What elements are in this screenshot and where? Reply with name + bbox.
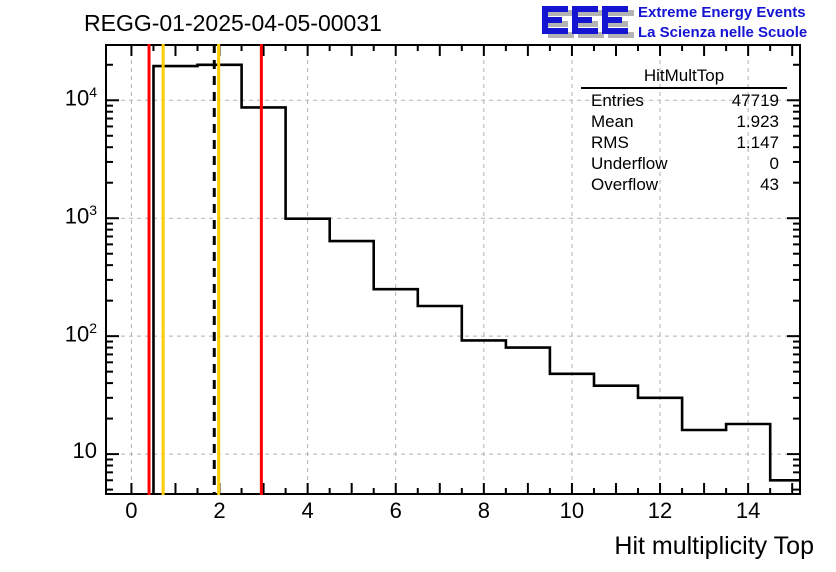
stats-row-value: 47719 (732, 90, 789, 111)
stats-row-value: 43 (760, 174, 789, 195)
y-tick-label: 10 (37, 438, 97, 464)
x-axis-title: Hit multiplicity Top (614, 532, 814, 561)
stats-row-label: Overflow (579, 174, 658, 195)
stats-row: Entries47719 (575, 90, 793, 111)
stats-row-value: 1.147 (736, 132, 789, 153)
y-tick-label: 103 (37, 202, 97, 229)
stats-row-value: 1.923 (736, 111, 789, 132)
x-tick-label: 2 (190, 498, 250, 524)
eee-logo-mark (540, 4, 636, 44)
stats-row: RMS1.147 (575, 132, 793, 153)
stats-row: Underflow0 (575, 153, 793, 174)
stats-row-label: Entries (579, 90, 644, 111)
x-tick-label: 12 (630, 498, 690, 524)
stats-row-label: Mean (579, 111, 634, 132)
stats-row-label: RMS (579, 132, 629, 153)
eee-logo-line2: La Scienza nelle Scuole (638, 24, 807, 41)
eee-logo: Extreme Energy Events La Scienza nelle S… (540, 2, 832, 46)
stats-row-label: Underflow (579, 153, 668, 174)
stats-box: HitMultTop Entries47719Mean1.923RMS1.147… (575, 66, 793, 195)
stats-row: Mean1.923 (575, 111, 793, 132)
y-tick-label: 102 (37, 320, 97, 347)
stats-title: HitMultTop (575, 66, 793, 87)
stats-row-value: 0 (770, 153, 789, 174)
x-tick-label: 8 (454, 498, 514, 524)
x-tick-label: 4 (278, 498, 338, 524)
x-tick-label: 14 (718, 498, 778, 524)
x-tick-label: 0 (101, 498, 161, 524)
stats-row: Overflow43 (575, 174, 793, 195)
page-title: REGG-01-2025-04-05-00031 (84, 10, 382, 37)
x-tick-label: 10 (542, 498, 602, 524)
canvas: REGG-01-2025-04-05-00031 Extreme Energy … (0, 0, 836, 572)
stats-rule (581, 87, 787, 89)
x-tick-label: 6 (366, 498, 426, 524)
y-tick-label: 104 (37, 84, 97, 111)
stats-rows: Entries47719Mean1.923RMS1.147Underflow0O… (575, 90, 793, 195)
eee-logo-line1: Extreme Energy Events (638, 4, 806, 21)
